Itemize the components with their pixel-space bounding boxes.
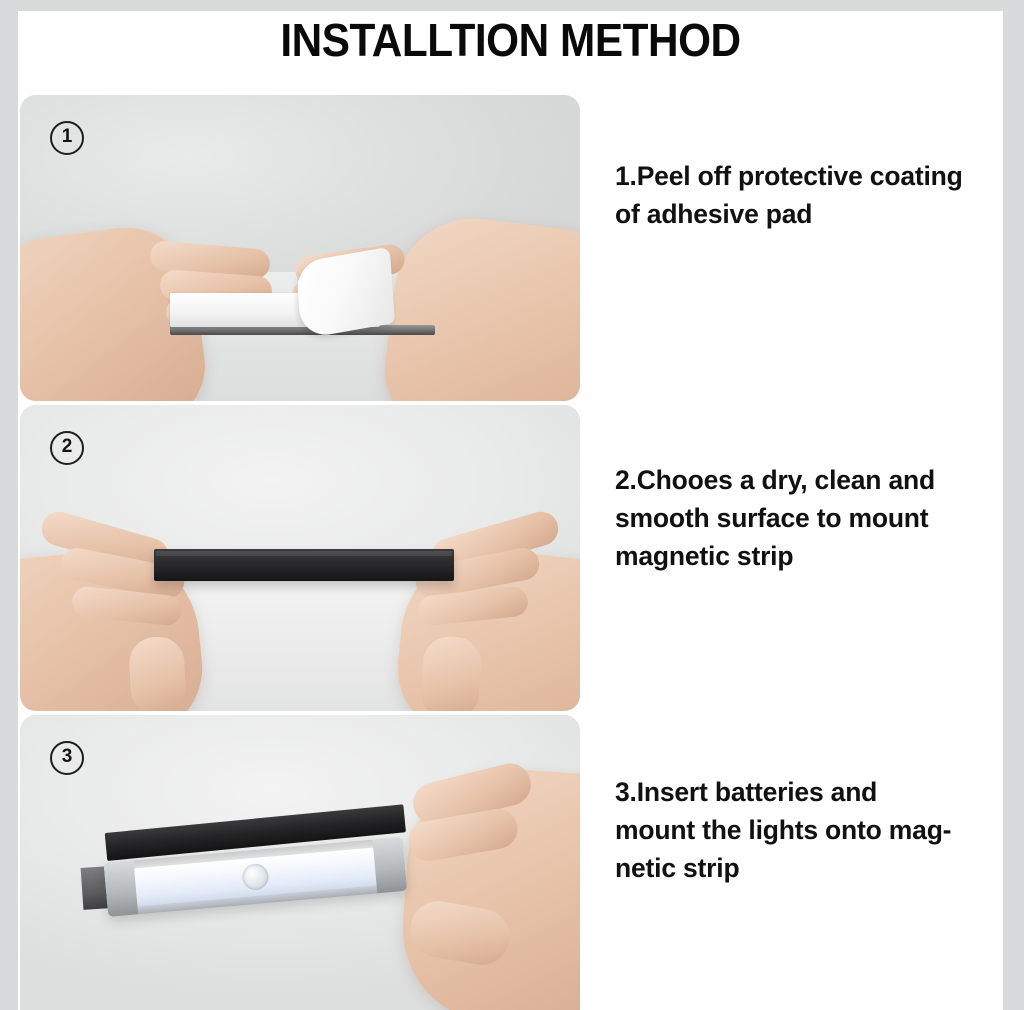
step-2-instruction: 2.Chooes a dry, clean and smooth surface… [615, 461, 1003, 575]
right-hand-thumb [419, 635, 483, 711]
step-row-3: 3 3.Insert batteries and mount the light… [18, 715, 1003, 1010]
step-2-line-3: magnetic strip [615, 537, 1003, 575]
step-3-instruction: 3.Insert batteries and mount the lights … [615, 773, 1003, 887]
step-1-line-1: 1.Peel off protective coating [615, 157, 1003, 195]
step-badge-3: 3 [50, 741, 84, 775]
step-2-photo: 2 [20, 405, 580, 711]
step-row-1: 1 1.Peel off protective coating of adhes… [18, 95, 1003, 401]
step-3-line-3: netic strip [615, 849, 1003, 887]
instruction-sheet: INSTALLTION METHOD 1 1.Peel off protec [18, 11, 1003, 1010]
step-1-instruction: 1.Peel off protective coating of adhesiv… [615, 157, 1003, 233]
step-1-photo: 1 [20, 95, 580, 401]
step-3-line-2: mount the lights onto mag- [615, 811, 1003, 849]
step-badge-2: 2 [50, 431, 84, 465]
led-end-cap [373, 837, 408, 893]
step-2-line-1: 2.Chooes a dry, clean and [615, 461, 1003, 499]
step-badge-1: 1 [50, 121, 84, 155]
page-title: INSTALLTION METHOD [57, 13, 963, 67]
step-3-line-1: 3.Insert batteries and [615, 773, 1003, 811]
step-1-line-2: of adhesive pad [615, 195, 1003, 233]
installation-instruction-page: INSTALLTION METHOD 1 1.Peel off protec [0, 0, 1024, 1010]
step-2-line-2: smooth surface to mount [615, 499, 1003, 537]
step-row-2: 2 2.Chooes a dry, clean and smooth surfa… [18, 405, 1003, 711]
magnetic-strip [154, 549, 454, 581]
step-3-photo: 3 [20, 715, 580, 1010]
led-end-cap [104, 860, 139, 916]
left-hand-thumb [128, 636, 187, 711]
